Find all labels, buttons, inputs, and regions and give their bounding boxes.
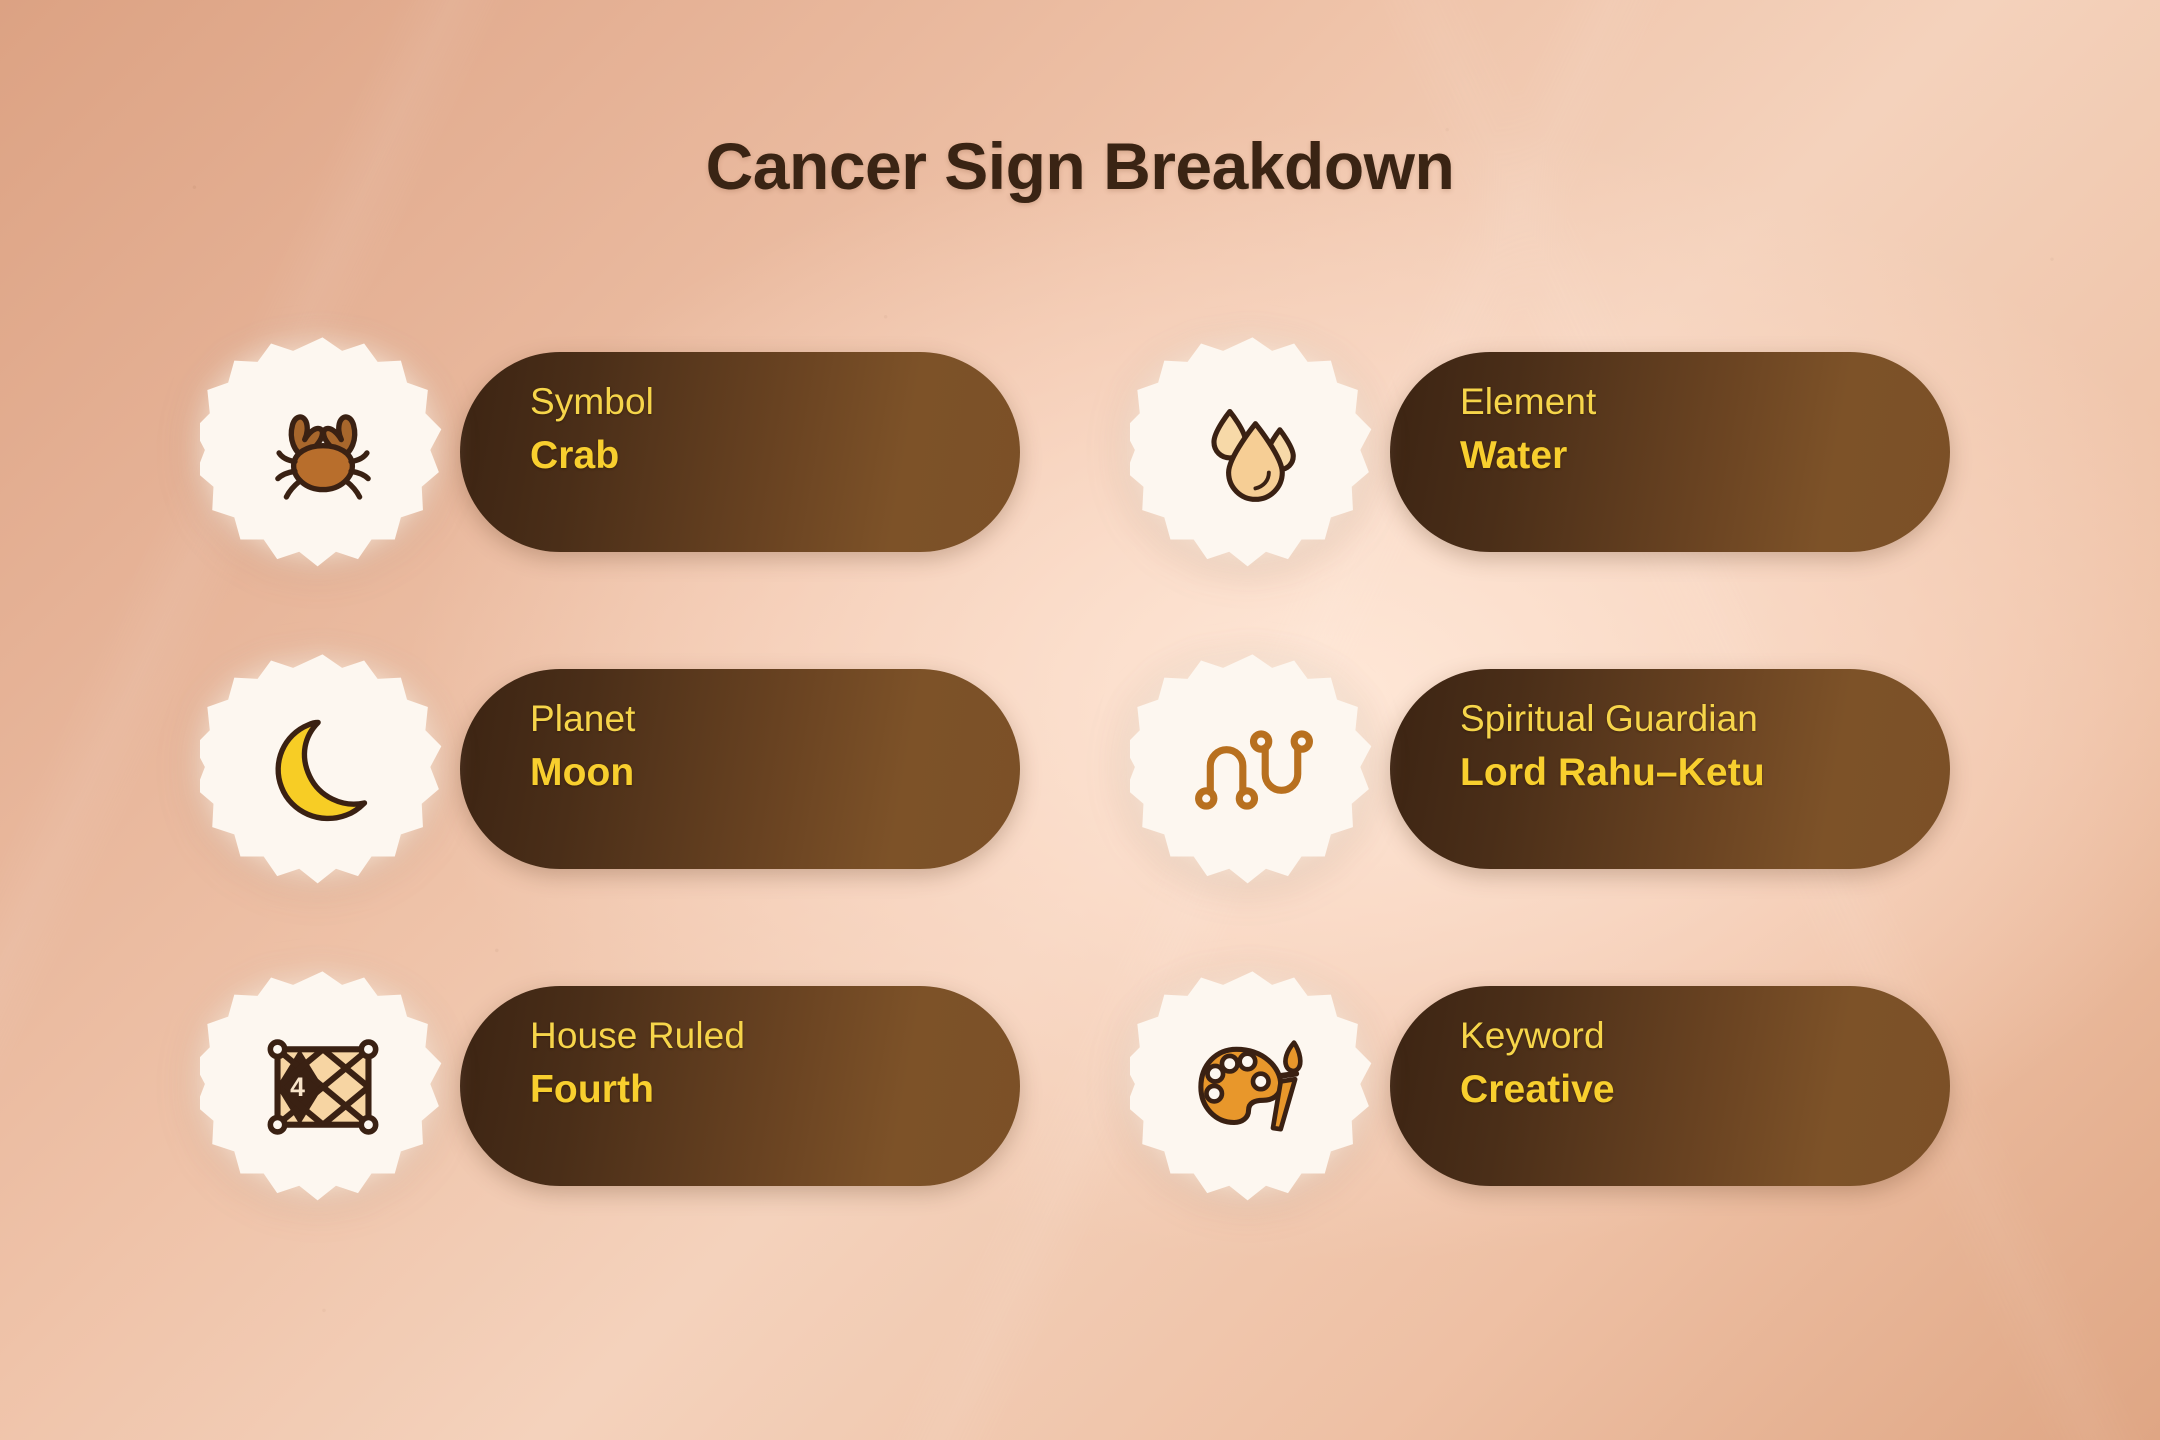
attribute-card-spiritual-guardian[interactable]: Spiritual Guardian Lord Rahu–Ketu — [1130, 647, 2010, 892]
attribute-card-element[interactable]: Element Water — [1130, 330, 2010, 575]
card-value: Lord Rahu–Ketu — [1460, 748, 1940, 798]
page-title: Cancer Sign Breakdown — [0, 128, 2160, 204]
rahu-ketu-icon — [1192, 709, 1314, 831]
card-label: Element — [1460, 378, 1940, 425]
attribute-card-grid: Symbol Crab — [200, 330, 2010, 1209]
card-badge — [200, 330, 445, 575]
crab-icon — [262, 392, 384, 514]
card-text-block: Symbol Crab — [530, 378, 1010, 481]
card-value: Fourth — [530, 1065, 1010, 1115]
palette-brush-icon — [1192, 1026, 1314, 1148]
card-value: Crab — [530, 431, 1010, 481]
card-label: Planet — [530, 695, 1010, 742]
card-badge — [1130, 964, 1375, 1209]
card-label: Spiritual Guardian — [1460, 695, 1940, 742]
house-number-label: 4 — [290, 1071, 305, 1101]
card-badge — [200, 647, 445, 892]
water-droplets-icon — [1192, 392, 1314, 514]
card-text-block: Element Water — [1460, 378, 1940, 481]
card-value: Water — [1460, 431, 1940, 481]
card-label: House Ruled — [530, 1012, 1010, 1059]
card-text-block: Planet Moon — [530, 695, 1010, 798]
attribute-card-symbol[interactable]: Symbol Crab — [200, 330, 1080, 575]
card-label: Symbol — [530, 378, 1010, 425]
card-badge: 4 — [200, 964, 445, 1209]
card-text-block: Spiritual Guardian Lord Rahu–Ketu — [1460, 695, 1940, 798]
card-text-block: Keyword Creative — [1460, 1012, 1940, 1115]
card-badge — [1130, 647, 1375, 892]
house-chart-icon: 4 — [262, 1026, 384, 1148]
card-text-block: House Ruled Fourth — [530, 1012, 1010, 1115]
card-label: Keyword — [1460, 1012, 1940, 1059]
card-value: Creative — [1460, 1065, 1940, 1115]
card-badge — [1130, 330, 1375, 575]
card-value: Moon — [530, 748, 1010, 798]
crescent-moon-icon — [262, 709, 384, 831]
attribute-card-planet[interactable]: Planet Moon — [200, 647, 1080, 892]
attribute-card-keyword[interactable]: Keyword Creative — [1130, 964, 2010, 1209]
attribute-card-house-ruled[interactable]: House Ruled Fourth — [200, 964, 1080, 1209]
